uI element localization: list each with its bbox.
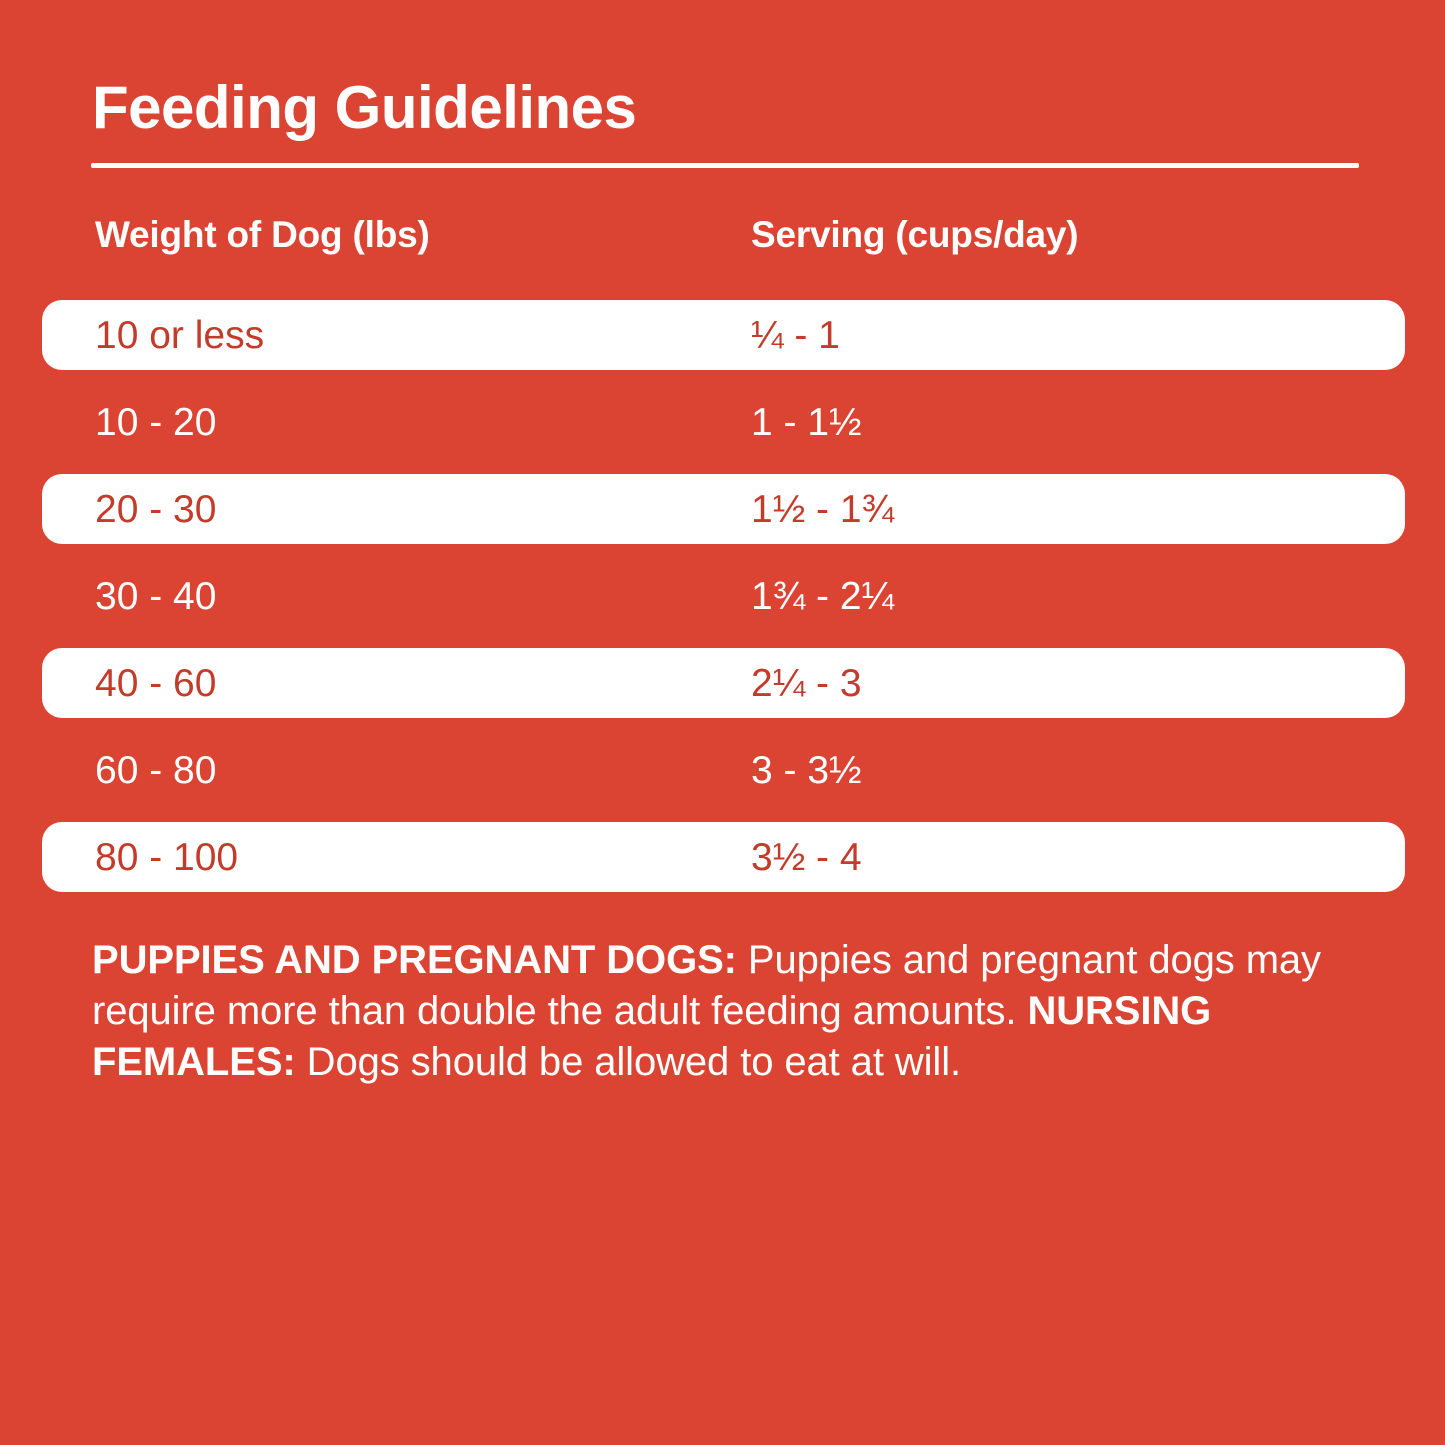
table-body: 10 or less ¼ - 1 10 - 20 1 - 1½ 20 - 30 … (0, 292, 1445, 901)
table-row: 30 - 40 1¾ - 2¼ (0, 553, 1445, 640)
table-row: 40 - 60 2¼ - 3 (0, 640, 1445, 727)
footnote-text-nursing: Dogs should be allowed to eat at will. (296, 1040, 961, 1084)
cell-serving: ¼ - 1 (751, 316, 840, 355)
cell-weight: 20 - 30 (95, 490, 216, 529)
table-row: 60 - 80 3 - 3½ (0, 727, 1445, 814)
feeding-footnote: PUPPIES AND PREGNANT DOGS: Puppies and p… (92, 935, 1367, 1088)
cell-weight: 10 or less (95, 316, 264, 355)
row-highlight-pill (42, 822, 1405, 892)
table-row: 20 - 30 1½ - 1¾ (0, 466, 1445, 553)
cell-serving: 1 - 1½ (751, 403, 862, 442)
table-row: 10 or less ¼ - 1 (0, 292, 1445, 379)
cell-weight: 60 - 80 (95, 751, 216, 790)
feeding-guidelines-panel: Feeding Guidelines Weight of Dog (lbs) S… (0, 0, 1445, 1445)
table-row: 80 - 100 3½ - 4 (0, 814, 1445, 901)
cell-serving: 1¾ - 2¼ (751, 577, 894, 616)
column-header-serving: Serving (cups/day) (751, 214, 1078, 256)
cell-serving: 3 - 3½ (751, 751, 862, 790)
cell-serving: 3½ - 4 (751, 838, 862, 877)
cell-weight: 30 - 40 (95, 577, 216, 616)
row-highlight-pill (42, 474, 1405, 544)
table-row: 10 - 20 1 - 1½ (0, 379, 1445, 466)
table-header-row: Weight of Dog (lbs) Serving (cups/day) (0, 208, 1445, 292)
footnote-label-puppies: PUPPIES AND PREGNANT DOGS: (92, 938, 737, 982)
cell-weight: 10 - 20 (95, 403, 216, 442)
cell-weight: 40 - 60 (95, 664, 216, 703)
column-header-weight: Weight of Dog (lbs) (95, 214, 430, 256)
row-highlight-pill (42, 648, 1405, 718)
cell-serving: 1½ - 1¾ (751, 490, 894, 529)
title-divider (91, 163, 1359, 168)
cell-serving: 2¼ - 3 (751, 664, 862, 703)
feeding-guidelines-table: Weight of Dog (lbs) Serving (cups/day) 1… (0, 208, 1445, 901)
cell-weight: 80 - 100 (95, 838, 238, 877)
page-title: Feeding Guidelines (92, 76, 636, 139)
